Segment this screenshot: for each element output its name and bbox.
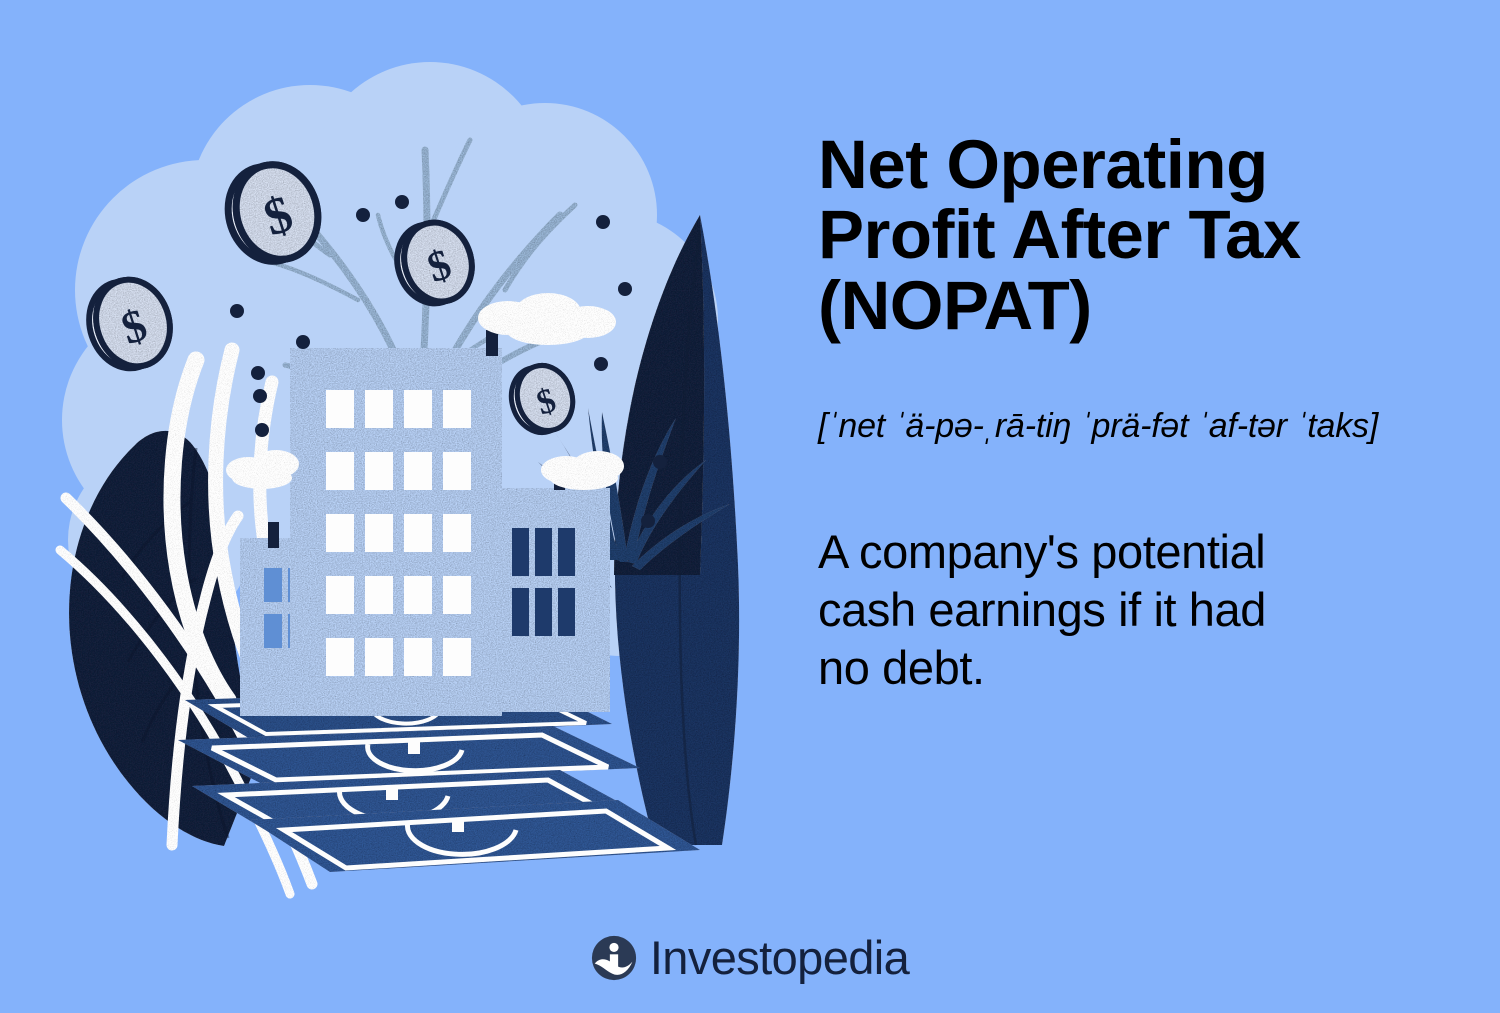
investopedia-i-mark-icon — [591, 935, 637, 981]
infographic-card: $ $ $ — [0, 0, 1500, 1013]
title-line-1: Net Operating — [818, 126, 1268, 203]
pronunciation-text: [ˈnet ˈä-pə-ˌrā-tiŋ ˈprä-fət ˈaf-tər ˈta… — [818, 405, 1468, 449]
investopedia-logo: Investopedia — [0, 930, 1500, 985]
chimney-icon — [486, 330, 498, 356]
page-title: Net Operating Profit After Tax (NOPAT) — [818, 130, 1468, 341]
title-line-3: (NOPAT) — [818, 267, 1092, 344]
title-line-2: Profit After Tax — [818, 196, 1301, 273]
definition-line-1: A company's potential — [818, 525, 1265, 578]
definition-text: A company's potential cash earnings if i… — [818, 523, 1468, 698]
nopat-illustration: $ $ $ — [0, 0, 790, 920]
definition-line-2: cash earnings if it had — [818, 583, 1266, 636]
building-main — [290, 330, 502, 716]
definition-line-3: no debt. — [818, 641, 985, 694]
chimney-icon — [268, 522, 279, 548]
brand-wordmark: Investopedia — [650, 930, 909, 985]
text-column: Net Operating Profit After Tax (NOPAT) [… — [818, 130, 1468, 697]
building-right — [500, 468, 610, 712]
